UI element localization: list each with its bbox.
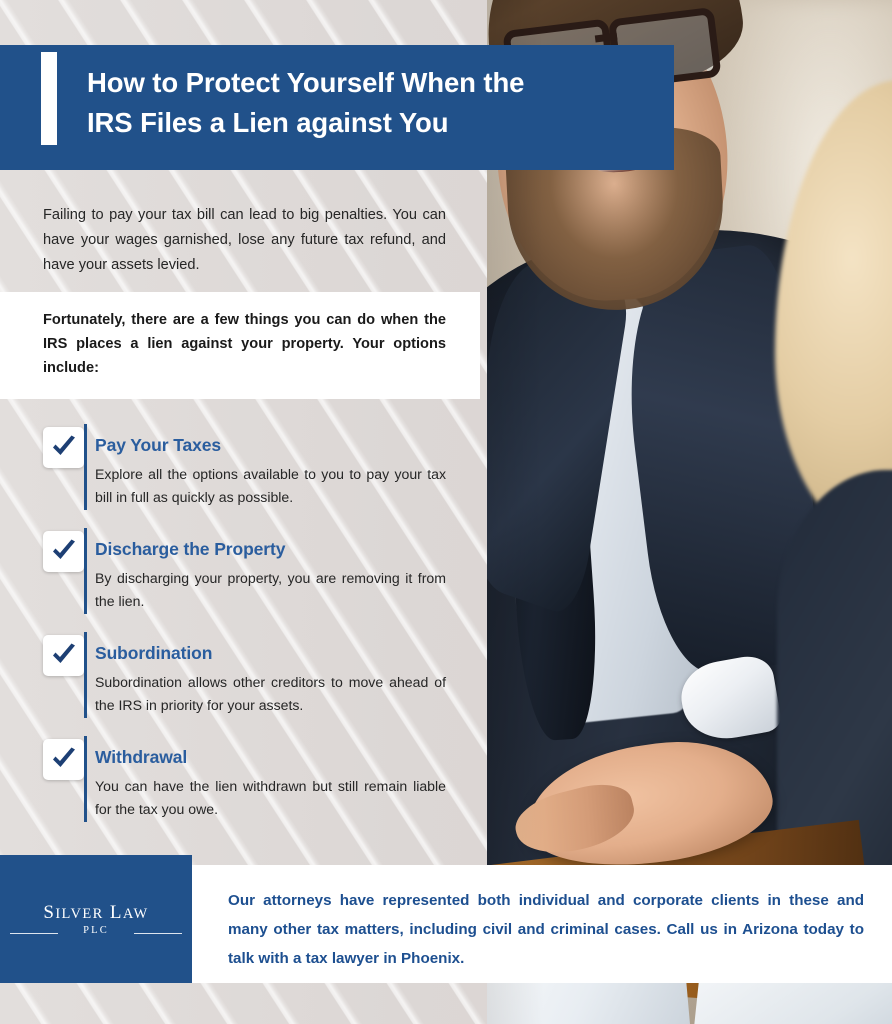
checklist-rule — [84, 736, 87, 822]
checkbox-1 — [43, 427, 84, 468]
check-icon — [43, 531, 84, 572]
page-title-line1: How to Protect Yourself When the — [87, 63, 647, 103]
checklist-rule — [84, 424, 87, 510]
silver-law-logo[interactable]: SILVER LAW PLC — [0, 855, 192, 983]
lead-in-band: Fortunately, there are a few things you … — [0, 292, 480, 399]
checklist-item: Pay Your Taxes Explore all the options a… — [0, 424, 487, 528]
checklist-title: Discharge the Property — [95, 539, 285, 560]
logo-word2-rest: AW — [123, 906, 149, 922]
checklist-description: Subordination allows other creditors to … — [95, 671, 446, 717]
page-title: How to Protect Yourself When the IRS Fil… — [87, 63, 647, 143]
page-title-line2: IRS Files a Lien against You — [87, 103, 647, 143]
logo-suffix: PLC — [20, 925, 172, 936]
checklist-description: Explore all the options available to you… — [95, 463, 446, 509]
check-icon — [43, 427, 84, 468]
checklist-item: Discharge the Property By discharging yo… — [0, 528, 487, 632]
checklist-rule — [84, 528, 87, 614]
logo-rule-left — [10, 933, 58, 934]
checklist-title: Withdrawal — [95, 747, 187, 768]
intro-paragraph: Failing to pay your tax bill can lead to… — [43, 203, 446, 278]
logo-rule-right — [134, 933, 182, 934]
footer-text-cta: Call us in Arizona today — [667, 921, 844, 938]
checklist-rule — [84, 632, 87, 718]
infographic-page: How to Protect Yourself When the IRS Fil… — [0, 0, 892, 1024]
check-icon — [43, 635, 84, 676]
title-accent-bar — [41, 52, 57, 145]
checklist-item: Subordination Subordination allows other… — [0, 632, 487, 736]
checklist-title: Pay Your Taxes — [95, 435, 221, 456]
logo-word1-cap: S — [43, 902, 55, 923]
checklist-description: By discharging your property, you are re… — [95, 567, 446, 613]
checklist-item: Withdrawal You can have the lien withdra… — [0, 736, 487, 840]
checkbox-4 — [43, 739, 84, 780]
footer-text: Our attorneys have represented both indi… — [228, 886, 864, 973]
checkbox-2 — [43, 531, 84, 572]
lead-in-text: Fortunately, there are a few things you … — [43, 308, 446, 380]
checklist-title: Subordination — [95, 643, 212, 664]
options-checklist: Pay Your Taxes Explore all the options a… — [0, 424, 487, 840]
checkbox-3 — [43, 635, 84, 676]
logo-wordmark: SILVER LAW — [20, 903, 172, 924]
checklist-description: You can have the lien withdrawn but stil… — [95, 775, 446, 821]
logo-inner: SILVER LAW PLC — [20, 903, 172, 936]
logo-word2-cap: L — [110, 902, 123, 923]
logo-word1-rest: ILVER — [55, 906, 103, 922]
title-banner: How to Protect Yourself When the IRS Fil… — [0, 45, 674, 170]
check-icon — [43, 739, 84, 780]
footer-band: Our attorneys have represented both indi… — [192, 865, 892, 983]
